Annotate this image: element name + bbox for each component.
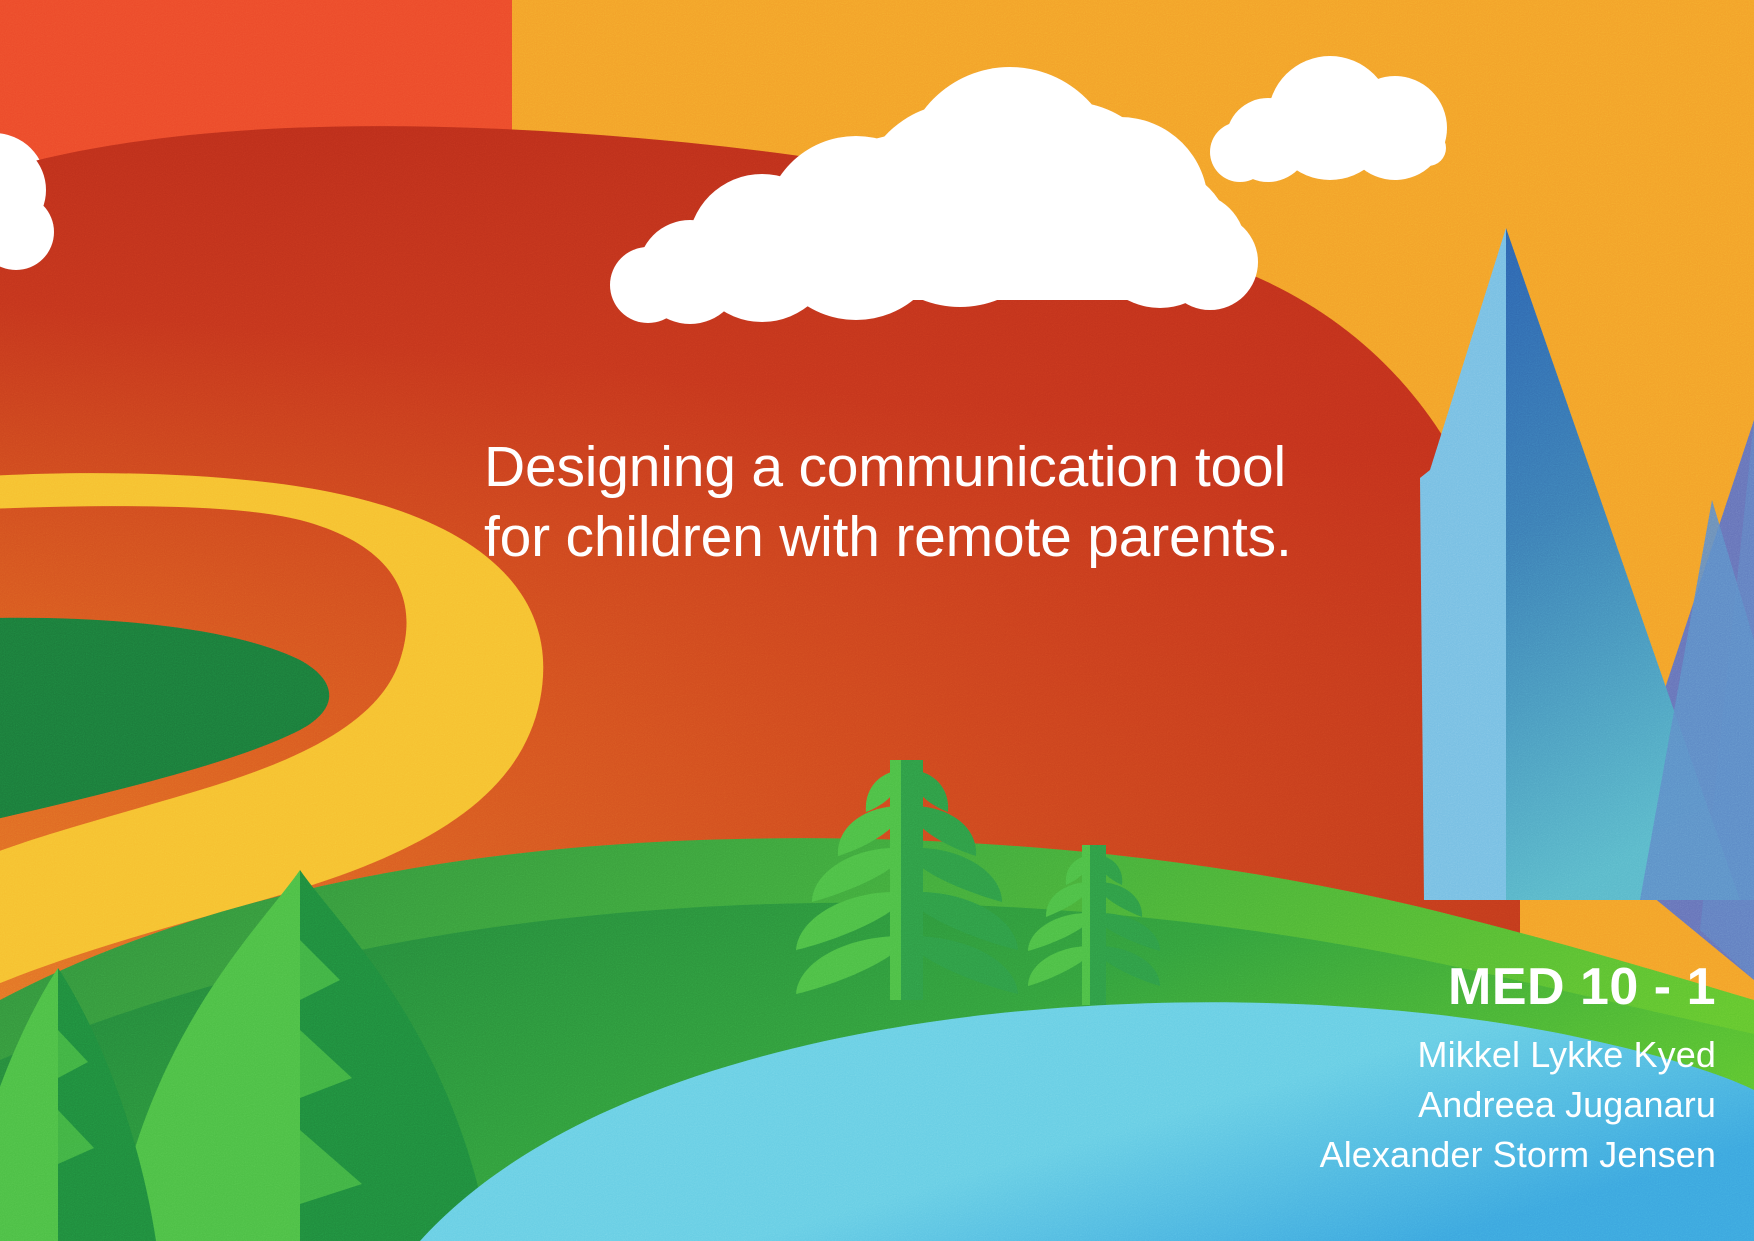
title-line-2: for children with remote parents.	[484, 502, 1404, 572]
course-code: MED 10 - 1	[1320, 958, 1716, 1016]
author-name: Alexander Storm Jensen	[1320, 1130, 1716, 1180]
author-name: Andreea Juganaru	[1320, 1080, 1716, 1130]
slide-title: Designing a communication tool for child…	[484, 432, 1404, 572]
credits: MED 10 - 1 Mikkel Lykke Kyed Andreea Jug…	[1320, 958, 1716, 1180]
title-line-1: Designing a communication tool	[484, 432, 1404, 502]
title-slide: Designing a communication tool for child…	[0, 0, 1754, 1241]
author-name: Mikkel Lykke Kyed	[1320, 1030, 1716, 1080]
